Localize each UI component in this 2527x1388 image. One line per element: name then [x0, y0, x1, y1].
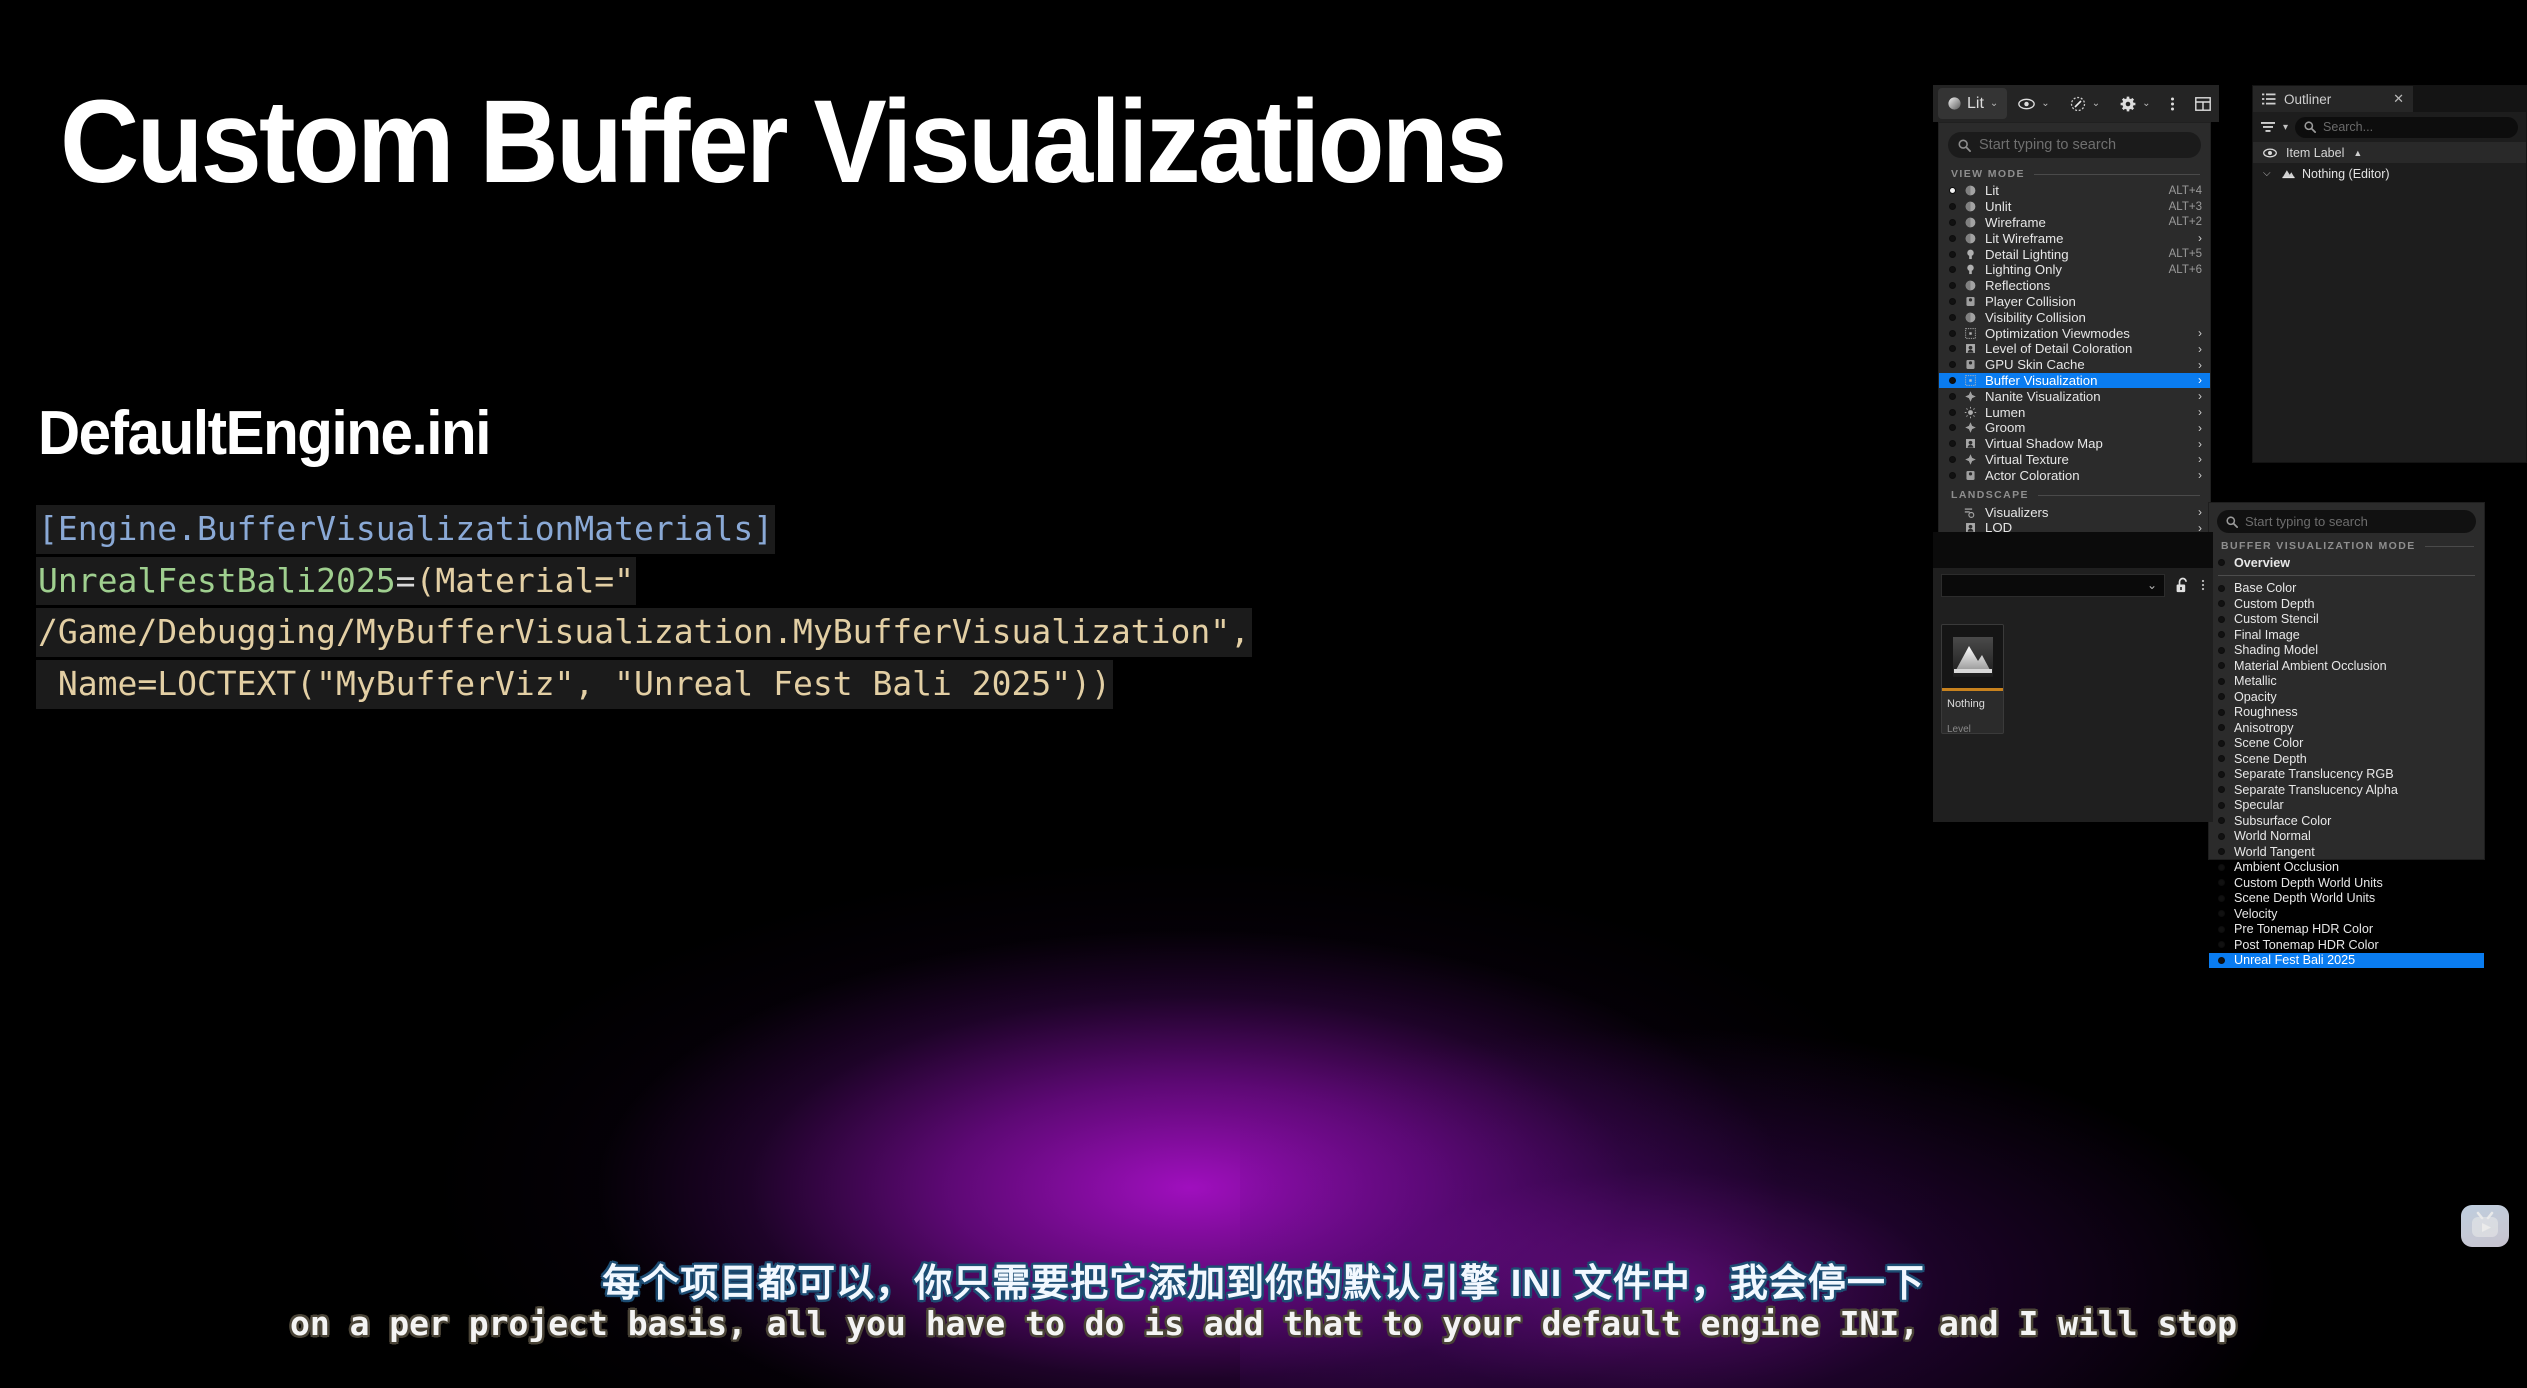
radio-icon: [1949, 251, 1956, 258]
buffer-viz-item-label: Custom Stencil: [2234, 612, 2319, 626]
chevron-right-icon: ›: [2194, 452, 2202, 466]
exposure-icon: [2070, 96, 2086, 112]
view-mode-item-virtual-texture[interactable]: Virtual Texture›: [1939, 452, 2210, 468]
chevron-down-icon[interactable]: ▾: [2283, 122, 2288, 133]
search-icon: [2226, 516, 2238, 528]
details-toolbar-row: ⌄: [1933, 568, 2213, 602]
optimization-icon: [1963, 326, 1978, 341]
view-mode-section-label: VIEW MODE: [1951, 168, 2025, 180]
section-divider: [2425, 546, 2474, 547]
buffer-viz-item-label: World Tangent: [2234, 845, 2315, 859]
radio-icon: [2218, 864, 2225, 871]
view-mode-item-label: Wireframe: [1985, 215, 2162, 230]
view-mode-item-level-of-detail-coloration[interactable]: Level of Detail Coloration›: [1939, 341, 2210, 357]
outliner-search-input[interactable]: Search...: [2295, 117, 2518, 138]
radio-icon: [2218, 926, 2225, 933]
radio-icon: [2218, 740, 2225, 747]
search-icon: [2304, 121, 2316, 133]
buffer-viz-item-label: Roughness: [2234, 705, 2298, 719]
code-operator: =: [396, 561, 416, 600]
radio-icon: [2218, 678, 2225, 685]
chevron-down-icon: ⌄: [2092, 98, 2100, 109]
buffer-viz-item-label: Scene Depth: [2234, 752, 2307, 766]
code-line-1: [Engine.BufferVisualizationMaterials]: [36, 505, 775, 554]
chevron-right-icon: ›: [2194, 231, 2202, 245]
radio-icon: [2218, 724, 2225, 731]
level-icon: [2282, 168, 2295, 179]
code-key: UnrealFestBali2025: [38, 561, 396, 600]
radio-icon: [2218, 693, 2225, 700]
view-mode-item-reflections[interactable]: Reflections: [1939, 278, 2210, 294]
radio-icon: [1949, 203, 1956, 210]
chevron-down-icon: ⌄: [2041, 98, 2049, 109]
lit-wireframe-icon: [1963, 231, 1978, 246]
eye-icon: [2018, 97, 2035, 111]
view-mode-item-label: Unlit: [1985, 199, 2162, 214]
view-mode-item-shortcut: ALT+4: [2169, 185, 2202, 197]
radio-icon: [1949, 377, 1956, 384]
buffer-visualization-icon: [1963, 373, 1978, 388]
section-divider: [2034, 174, 2200, 175]
buffer-viz-item-ambient-occlusion[interactable]: Ambient Occlusion: [2209, 860, 2484, 876]
buffer-viz-item-label: Ambient Occlusion: [2234, 860, 2339, 874]
expand-arrow-icon[interactable]: ⌵: [2263, 168, 2275, 179]
chevron-right-icon: ›: [2194, 405, 2202, 419]
buffer-viz-item-label: Separate Translucency Alpha: [2234, 783, 2398, 797]
exposure-button[interactable]: ⌄: [2061, 88, 2109, 119]
buffer-viz-item-label: Custom Depth: [2234, 597, 2315, 611]
chevron-right-icon: ›: [2194, 437, 2202, 451]
buffer-viz-section-header: BUFFER VISUALIZATION MODE: [2209, 536, 2484, 555]
radio-icon: [2218, 848, 2225, 855]
outliner-tab-bar: Outliner ✕: [2253, 86, 2526, 112]
view-mode-item-wireframe[interactable]: WireframeALT+2: [1939, 215, 2210, 231]
lod-coloration-icon: [1963, 341, 1978, 356]
landscape-list: Visualizers›LOD›: [1939, 504, 2210, 536]
landscape-item-visualizers[interactable]: Visualizers›: [1939, 504, 2210, 520]
code-material-path: /Game/Debugging/MyBufferVisualization.My…: [38, 612, 1250, 651]
caption-english: on a per project basis, all you have to …: [0, 1304, 2527, 1343]
outliner-icon: [2262, 93, 2276, 105]
view-mode-item-visibility-collision[interactable]: Visibility Collision: [1939, 309, 2210, 325]
buffer-viz-item-custom-depth[interactable]: Custom Depth: [2209, 596, 2484, 612]
buffer-viz-item-custom-depth-world-units[interactable]: Custom Depth World Units: [2209, 875, 2484, 891]
grid-layout-icon: [2195, 97, 2211, 111]
buffer-viz-item-subsurface-color[interactable]: Subsurface Color: [2209, 813, 2484, 829]
code-line-2: UnrealFestBali2025=(Material=": [36, 557, 636, 606]
view-mode-item-label: Nanite Visualization: [1985, 389, 2187, 404]
code-block: [Engine.BufferVisualizationMaterials] Un…: [36, 505, 1252, 712]
chevron-right-icon: ›: [2194, 505, 2202, 519]
radio-icon: [1949, 424, 1956, 431]
buffer-viz-item-world-tangent[interactable]: World Tangent: [2209, 844, 2484, 860]
radio-icon: [1949, 298, 1956, 305]
unreal-editor-overlay: Lit ⌄ ⌄ ⌄ ⌄: [1933, 85, 2527, 1240]
view-mode-item-label: Reflections: [1985, 278, 2202, 293]
radio-icon: [2218, 879, 2225, 886]
buffer-viz-item-label: World Normal: [2234, 829, 2311, 843]
buffer-viz-item-label: Metallic: [2234, 674, 2277, 688]
level-mountain-icon: [1942, 625, 2003, 688]
radio-icon: [1949, 282, 1956, 289]
radio-icon: [1949, 235, 1956, 242]
buffer-viz-item-base-color[interactable]: Base Color: [2209, 581, 2484, 597]
view-mode-item-actor-coloration[interactable]: Actor Coloration›: [1939, 467, 2210, 483]
radio-icon: [2218, 662, 2225, 669]
close-icon[interactable]: ✕: [2393, 91, 2404, 107]
eye-icon[interactable]: [2263, 148, 2277, 158]
details-combo-box[interactable]: ⌄: [1941, 574, 2165, 597]
chevron-down-icon: ⌄: [2142, 98, 2150, 109]
buffer-visualization-submenu: Start typing to search BUFFER VISUALIZAT…: [2208, 502, 2485, 860]
view-mode-item-label: Visibility Collision: [1985, 310, 2202, 325]
view-mode-item-label: GPU Skin Cache: [1985, 357, 2187, 372]
buffer-viz-item-label: Scene Color: [2234, 736, 2303, 750]
outliner-column-label: Item Label: [2286, 146, 2344, 160]
chevron-right-icon: ›: [2194, 342, 2202, 356]
buffer-viz-item-label: Custom Depth World Units: [2234, 876, 2383, 890]
chevron-right-icon: ›: [2194, 389, 2202, 403]
radio-icon: [1949, 472, 1956, 479]
code-value-start: (Material=": [416, 561, 635, 600]
radio-icon: [2218, 616, 2225, 623]
view-mode-item-label: Detail Lighting: [1985, 247, 2162, 262]
view-mode-item-shortcut: ALT+5: [2169, 248, 2202, 260]
buffer-viz-item-material-ambient-occlusion[interactable]: Material Ambient Occlusion: [2209, 658, 2484, 674]
radio-icon: [1949, 266, 1956, 273]
bilibili-logo: [2461, 1205, 2509, 1247]
visualizers-icon: [1963, 505, 1978, 520]
wireframe-sphere-icon: [1963, 215, 1978, 230]
view-mode-search-input[interactable]: Start typing to search: [1948, 132, 2201, 158]
outliner-column-header[interactable]: Item Label ▲: [2253, 142, 2526, 163]
buffer-viz-item-separate-translucency-alpha[interactable]: Separate Translucency Alpha: [2209, 782, 2484, 798]
buffer-viz-search-placeholder: Start typing to search: [2245, 514, 2368, 529]
radio-icon: [2218, 600, 2225, 607]
lit-sphere-icon: [1947, 96, 1962, 111]
buffer-viz-item-shading-model[interactable]: Shading Model: [2209, 643, 2484, 659]
radio-icon: [2218, 559, 2225, 566]
radio-icon: [2218, 957, 2225, 964]
groom-icon: [1963, 420, 1978, 435]
code-loctext: Name=LOCTEXT("MyBufferViz", "Unreal Fest…: [38, 664, 1111, 703]
buffer-viz-item-label: Anisotropy: [2234, 721, 2294, 735]
chevron-right-icon: ›: [2194, 421, 2202, 435]
virtual-shadow-map-icon: [1963, 436, 1978, 451]
filter-icon[interactable]: [2261, 121, 2276, 133]
chevron-right-icon: ›: [2194, 358, 2202, 372]
player-collision-icon: [1963, 294, 1978, 309]
view-mode-item-label: Lit: [1985, 183, 2162, 198]
view-mode-item-unlit[interactable]: UnlitALT+3: [1939, 199, 2210, 215]
view-mode-item-label: Groom: [1985, 420, 2187, 435]
radio-icon: [2218, 941, 2225, 948]
radio-icon: [1949, 361, 1956, 368]
buffer-viz-item-velocity[interactable]: Velocity: [2209, 906, 2484, 922]
chevron-down-icon: ⌄: [1990, 98, 1998, 109]
radio-icon: [1949, 314, 1956, 321]
section-divider: [2038, 495, 2200, 496]
details-panel-header: [1933, 532, 2213, 568]
search-icon: [1958, 139, 1971, 152]
code-line-4: Name=LOCTEXT("MyBufferViz", "Unreal Fest…: [36, 660, 1113, 709]
radio-icon: [2218, 895, 2225, 902]
code-line-3: /Game/Debugging/MyBufferVisualization.My…: [36, 608, 1252, 657]
menu-divider: [2218, 575, 2475, 576]
outliner-row[interactable]: ⌵Nothing (Editor): [2253, 163, 2526, 184]
radio-icon: [1949, 393, 1956, 400]
buffer-viz-item-label: Material Ambient Occlusion: [2234, 659, 2387, 673]
caption-chinese: 每个项目都可以，你只需要把它添加到你的默认引擎 INI 文件中，我会停一下: [0, 1252, 2527, 1307]
code-section-header: [Engine.BufferVisualizationMaterials]: [38, 509, 773, 548]
view-mode-item-virtual-shadow-map[interactable]: Virtual Shadow Map›: [1939, 436, 2210, 452]
outliner-rows: ⌵Nothing (Editor): [2253, 163, 2526, 184]
more-options-button[interactable]: [2161, 88, 2184, 119]
asset-tile[interactable]: Nothing Level: [1941, 624, 2004, 734]
view-mode-list: LitALT+4UnlitALT+3WireframeALT+2Lit Wire…: [1939, 183, 2210, 483]
radio-icon: [2218, 755, 2225, 762]
buffer-viz-item-final-image[interactable]: Final Image: [2209, 627, 2484, 643]
chevron-right-icon: ›: [2194, 326, 2202, 340]
buffer-viz-item-separate-translucency-rgb[interactable]: Separate Translucency RGB: [2209, 767, 2484, 783]
buffer-viz-item-scene-depth[interactable]: Scene Depth: [2209, 751, 2484, 767]
view-mode-item-label: Lumen: [1985, 405, 2187, 420]
view-mode-button[interactable]: Lit ⌄: [1938, 88, 2007, 119]
buffer-viz-item-post-tonemap-hdr-color[interactable]: Post Tonemap HDR Color: [2209, 937, 2484, 953]
buffer-viz-item-overview[interactable]: Overview: [2209, 555, 2484, 571]
radio-icon: [2218, 910, 2225, 917]
nanite-icon: [1963, 389, 1978, 404]
chevron-right-icon: ›: [2194, 468, 2202, 482]
page-title: Custom Buffer Visualizations: [60, 82, 1504, 202]
radio-icon: [1949, 219, 1956, 226]
buffer-viz-item-roughness[interactable]: Roughness: [2209, 705, 2484, 721]
view-mode-item-gpu-skin-cache[interactable]: GPU Skin Cache›: [1939, 357, 2210, 373]
view-mode-search-placeholder: Start typing to search: [1979, 137, 2116, 153]
view-mode-item-lumen[interactable]: Lumen›: [1939, 404, 2210, 420]
view-mode-item-lighting-only[interactable]: Lighting OnlyALT+6: [1939, 262, 2210, 278]
asset-type-label: Level: [1942, 710, 2003, 734]
buffer-viz-item-label: Post Tonemap HDR Color: [2234, 938, 2379, 952]
landscape-section-label: LANDSCAPE: [1951, 489, 2029, 501]
unlock-icon[interactable]: [2175, 577, 2191, 594]
buffer-viz-item-label: Subsurface Color: [2234, 814, 2331, 828]
radio-icon: [2218, 817, 2225, 824]
buffer-viz-item-label: Separate Translucency RGB: [2234, 767, 2394, 781]
radio-icon: [1949, 456, 1956, 463]
radio-icon: [2218, 709, 2225, 716]
buffer-viz-item-label: Unreal Fest Bali 2025: [2234, 953, 2355, 967]
buffer-viz-item-scene-depth-world-units[interactable]: Scene Depth World Units: [2209, 891, 2484, 907]
view-mode-item-nanite-visualization[interactable]: Nanite Visualization›: [1939, 388, 2210, 404]
buffer-viz-overview-label: Overview: [2234, 556, 2290, 570]
kebab-menu-icon[interactable]: [2201, 578, 2205, 592]
view-mode-dropdown: Start typing to search VIEW MODE LitALT+…: [1938, 122, 2211, 566]
buffer-viz-item-label: Base Color: [2234, 581, 2296, 595]
viewport-layout-button[interactable]: [2186, 88, 2220, 119]
view-mode-item-label: Level of Detail Coloration: [1985, 341, 2187, 356]
radio-icon: [1949, 440, 1956, 447]
lit-sphere-icon: [1963, 183, 1978, 198]
radio-icon: [2218, 833, 2225, 840]
buffer-viz-item-pre-tonemap-hdr-color[interactable]: Pre Tonemap HDR Color: [2209, 922, 2484, 938]
buffer-viz-item-label: Shading Model: [2234, 643, 2318, 657]
outliner-search-row: ▾ Search...: [2253, 112, 2526, 142]
buffer-viz-item-custom-stencil[interactable]: Custom Stencil: [2209, 612, 2484, 628]
radio-icon: [2218, 631, 2225, 638]
view-mode-item-label: Virtual Shadow Map: [1985, 436, 2187, 451]
buffer-viz-list: Base ColorCustom DepthCustom StencilFina…: [2209, 581, 2484, 969]
viewport-toolbar: Lit ⌄ ⌄ ⌄ ⌄: [1933, 85, 2219, 122]
details-panel: ⌄ Nothing Level: [1933, 532, 2213, 822]
kebab-menu-icon: [2170, 96, 2175, 112]
buffer-viz-item-label: Pre Tonemap HDR Color: [2234, 922, 2373, 936]
subheading-filename: DefaultEngine.ini: [38, 398, 490, 469]
buffer-viz-item-scene-color[interactable]: Scene Color: [2209, 736, 2484, 752]
buffer-viz-item-label: Scene Depth World Units: [2234, 891, 2375, 905]
buffer-viz-item-unreal-fest-bali-2025[interactable]: Unreal Fest Bali 2025: [2209, 953, 2484, 969]
radio-icon: [1949, 345, 1956, 352]
gpu-skin-cache-icon: [1963, 357, 1978, 372]
view-mode-item-optimization-viewmodes[interactable]: Optimization Viewmodes›: [1939, 325, 2210, 341]
view-mode-item-shortcut: ALT+3: [2169, 201, 2202, 213]
view-mode-item-buffer-visualization[interactable]: Buffer Visualization›: [1939, 373, 2210, 389]
view-mode-item-label: Optimization Viewmodes: [1985, 326, 2187, 341]
view-mode-item-label: Actor Coloration: [1985, 468, 2187, 483]
landscape-item-label: Visualizers: [1985, 505, 2187, 520]
view-mode-item-groom[interactable]: Groom›: [1939, 420, 2210, 436]
visibility-collision-icon: [1963, 310, 1978, 325]
view-mode-item-lit-wireframe[interactable]: Lit Wireframe›: [1939, 230, 2210, 246]
buffer-viz-item-label: Final Image: [2234, 628, 2300, 642]
lightbulb-icon: [1963, 262, 1978, 277]
reflections-icon: [1963, 278, 1978, 293]
outliner-search-placeholder: Search...: [2323, 120, 2373, 134]
virtual-texture-icon: [1963, 452, 1978, 467]
radio-icon: [2218, 771, 2225, 778]
chevron-down-icon: ⌄: [2147, 578, 2157, 592]
view-mode-item-label: Player Collision: [1985, 294, 2202, 309]
view-mode-item-shortcut: ALT+6: [2169, 264, 2202, 276]
view-mode-item-lit[interactable]: LitALT+4: [1939, 183, 2210, 199]
view-mode-item-label: Buffer Visualization: [1985, 373, 2187, 388]
view-mode-label: Lit: [1967, 95, 1984, 113]
show-flags-button[interactable]: ⌄: [2009, 88, 2058, 119]
view-mode-item-player-collision[interactable]: Player Collision: [1939, 294, 2210, 310]
buffer-viz-search-input[interactable]: Start typing to search: [2217, 510, 2476, 533]
buffer-viz-item-opacity[interactable]: Opacity: [2209, 689, 2484, 705]
unlit-sphere-icon: [1963, 199, 1978, 214]
detail-lighting-icon: [1963, 247, 1978, 262]
buffer-viz-item-specular[interactable]: Specular: [2209, 798, 2484, 814]
outliner-tab-label: Outliner: [2284, 92, 2385, 107]
buffer-viz-item-anisotropy[interactable]: Anisotropy: [2209, 720, 2484, 736]
buffer-viz-section-label: BUFFER VISUALIZATION MODE: [2221, 540, 2416, 552]
radio-icon: [2218, 585, 2225, 592]
chevron-right-icon: ›: [2194, 373, 2202, 387]
lumen-icon: [1963, 405, 1978, 420]
outliner-panel: Outliner ✕ ▾ Search... Item Label ▲ ⌵Not…: [2252, 85, 2527, 463]
outliner-row-label: Nothing (Editor): [2302, 167, 2390, 181]
actor-coloration-icon: [1963, 468, 1978, 483]
radio-icon: [2218, 802, 2225, 809]
buffer-viz-item-metallic[interactable]: Metallic: [2209, 674, 2484, 690]
buffer-viz-item-world-normal[interactable]: World Normal: [2209, 829, 2484, 845]
landscape-section-header: LANDSCAPE: [1939, 483, 2210, 504]
view-mode-item-label: Lighting Only: [1985, 262, 2162, 277]
view-mode-item-shortcut: ALT+2: [2169, 216, 2202, 228]
sort-ascending-icon[interactable]: ▲: [2353, 148, 2362, 158]
view-mode-item-detail-lighting[interactable]: Detail LightingALT+5: [1939, 246, 2210, 262]
gear-icon: [2120, 96, 2136, 112]
view-mode-section-header: VIEW MODE: [1939, 162, 2210, 183]
asset-name-label: Nothing: [1942, 691, 2003, 710]
radio-icon: [1949, 187, 1956, 194]
radio-icon: [1949, 330, 1956, 337]
outliner-tab[interactable]: Outliner ✕: [2253, 86, 2413, 112]
radio-icon: [1949, 409, 1956, 416]
buffer-viz-item-label: Velocity: [2234, 907, 2277, 921]
radio-icon: [2218, 647, 2225, 654]
view-mode-item-label: Virtual Texture: [1985, 452, 2187, 467]
buffer-viz-item-label: Specular: [2234, 798, 2284, 812]
viewport-settings-button[interactable]: ⌄: [2111, 88, 2159, 119]
radio-icon: [2218, 786, 2225, 793]
view-mode-item-label: Lit Wireframe: [1985, 231, 2187, 246]
buffer-viz-item-label: Opacity: [2234, 690, 2277, 704]
